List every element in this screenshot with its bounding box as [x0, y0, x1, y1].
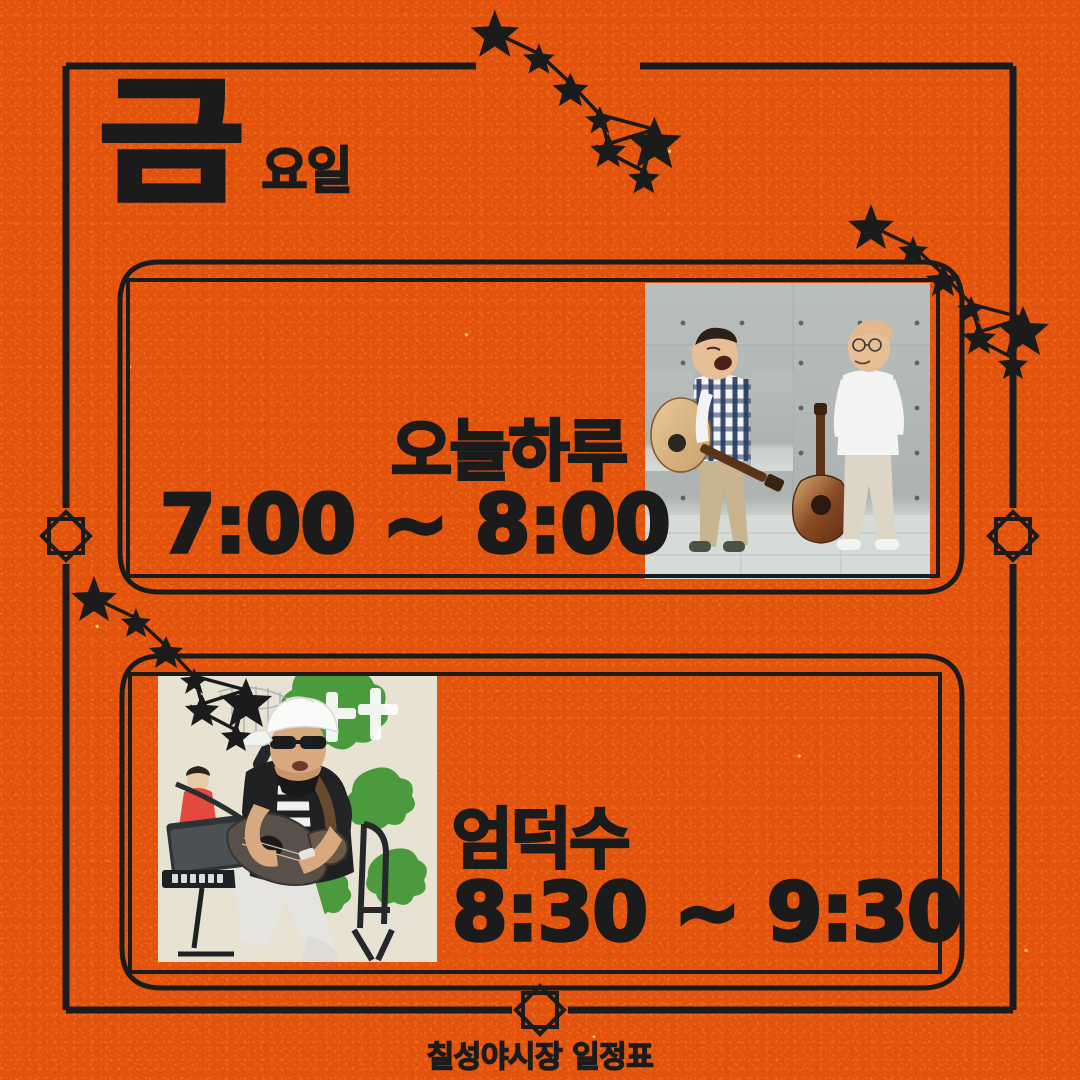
star-medallion-left	[42, 512, 90, 560]
photo-duo-guitarists	[645, 283, 930, 579]
card-1-time: 7:00 ~ 8:00	[160, 485, 626, 565]
card-1-artist: 오늘하루	[160, 418, 626, 485]
star-glyph	[471, 10, 682, 194]
card-1-photo	[645, 283, 930, 579]
card-2-artist: 엄덕수	[452, 806, 948, 873]
footer-caption: 칠성야시장 일정표	[0, 1032, 1080, 1076]
constellation-top	[471, 10, 682, 194]
star-medallion-bottom	[516, 986, 564, 1034]
card-1-text: 오늘하루 7:00 ~ 8:00	[160, 418, 626, 565]
card-2-time: 8:30 ~ 9:30	[452, 873, 948, 953]
card-2-text: 엄덕수 8:30 ~ 9:30	[452, 806, 948, 953]
day-title: 금 요일	[100, 88, 351, 202]
card-2-photo	[158, 674, 437, 962]
poster-canvas: 금 요일 오늘하루 7:00 ~ 8:00 엄덕수 8:30 ~ 9:30 칠성…	[0, 0, 1080, 1080]
star-medallion-right	[989, 512, 1037, 560]
day-title-suffix: 요일	[261, 146, 351, 196]
day-title-big: 금	[100, 86, 241, 202]
photo-solo-guitarist	[158, 674, 437, 962]
